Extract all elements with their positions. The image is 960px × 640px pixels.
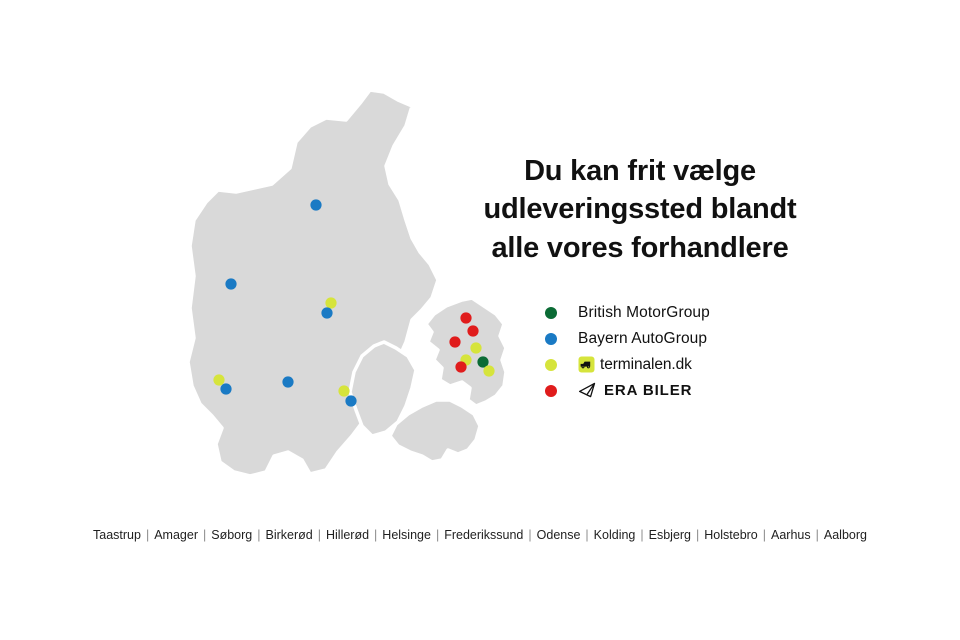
legend-item-bayern-autogroup: Bayern AutoGroup [545, 326, 805, 351]
city-name: Hillerød [326, 528, 369, 542]
city-separator: | [431, 528, 444, 542]
map-marker[interactable] [449, 336, 460, 347]
headline-line-1: Du kan frit vælge [470, 152, 810, 190]
era-biler-brand-lockup: ERA BILER [578, 382, 692, 399]
city-separator: | [811, 528, 824, 542]
legend-item-era-biler: ERA BILER [545, 378, 805, 403]
brand-legend: British MotorGroup Bayern AutoGroup term… [545, 300, 805, 404]
city-separator: | [758, 528, 771, 542]
city-name: Frederikssund [444, 528, 523, 542]
map-marker[interactable] [483, 365, 494, 376]
infographic-canvas: Du kan frit vælge udleveringssted blandt… [0, 0, 960, 640]
city-separator: | [635, 528, 648, 542]
map-marker[interactable] [325, 297, 336, 308]
city-name: Esbjerg [649, 528, 691, 542]
legend-item-british-motorgroup: British MotorGroup [545, 300, 805, 325]
city-name: Aarhus [771, 528, 811, 542]
map-marker[interactable] [220, 383, 231, 394]
terminalen-van-icon [578, 356, 595, 373]
terminalen-brand-lockup: terminalen.dk [578, 356, 692, 374]
page-title: Du kan frit vælge udleveringssted blandt… [470, 152, 810, 267]
map-marker[interactable] [282, 376, 293, 387]
city-separator: | [252, 528, 265, 542]
city-name: Helsinge [382, 528, 431, 542]
city-separator: | [691, 528, 704, 542]
map-marker[interactable] [455, 361, 466, 372]
map-marker[interactable] [467, 325, 478, 336]
map-marker[interactable] [321, 307, 332, 318]
city-separator: | [198, 528, 211, 542]
map-marker[interactable] [338, 385, 349, 396]
denmark-map [150, 80, 550, 500]
headline-line-2: udleveringssted blandt [470, 190, 810, 228]
city-name: Amager [154, 528, 198, 542]
city-list: Taastrup|Amager|Søborg|Birkerød|Hillerød… [0, 528, 960, 542]
map-marker[interactable] [470, 342, 481, 353]
legend-label-terminalen: terminalen.dk [600, 356, 692, 374]
legend-color-swatch-red [545, 385, 557, 397]
city-separator: | [580, 528, 593, 542]
era-triangle-icon [578, 382, 599, 399]
map-marker[interactable] [310, 199, 321, 210]
city-name: Søborg [211, 528, 252, 542]
legend-color-swatch-green [545, 307, 557, 319]
headline-line-3: alle vores forhandlere [470, 229, 810, 267]
city-name: Holstebro [704, 528, 758, 542]
map-marker[interactable] [225, 278, 236, 289]
city-separator: | [523, 528, 536, 542]
legend-label-bayern-autogroup: Bayern AutoGroup [578, 330, 707, 348]
map-marker[interactable] [345, 395, 356, 406]
city-name: Aalborg [824, 528, 867, 542]
legend-label-era-biler: ERA BILER [604, 382, 692, 399]
city-separator: | [141, 528, 154, 542]
legend-color-swatch-blue [545, 333, 557, 345]
legend-label-british-motorgroup: British MotorGroup [578, 304, 710, 322]
city-separator: | [313, 528, 326, 542]
city-name: Birkerød [266, 528, 313, 542]
city-name: Odense [537, 528, 581, 542]
city-name: Kolding [594, 528, 636, 542]
legend-item-terminalen: terminalen.dk [545, 352, 805, 377]
city-name: Taastrup [93, 528, 141, 542]
denmark-map-svg [150, 80, 550, 500]
map-marker[interactable] [213, 374, 224, 385]
map-marker[interactable] [460, 312, 471, 323]
legend-color-swatch-yellow [545, 359, 557, 371]
city-separator: | [369, 528, 382, 542]
